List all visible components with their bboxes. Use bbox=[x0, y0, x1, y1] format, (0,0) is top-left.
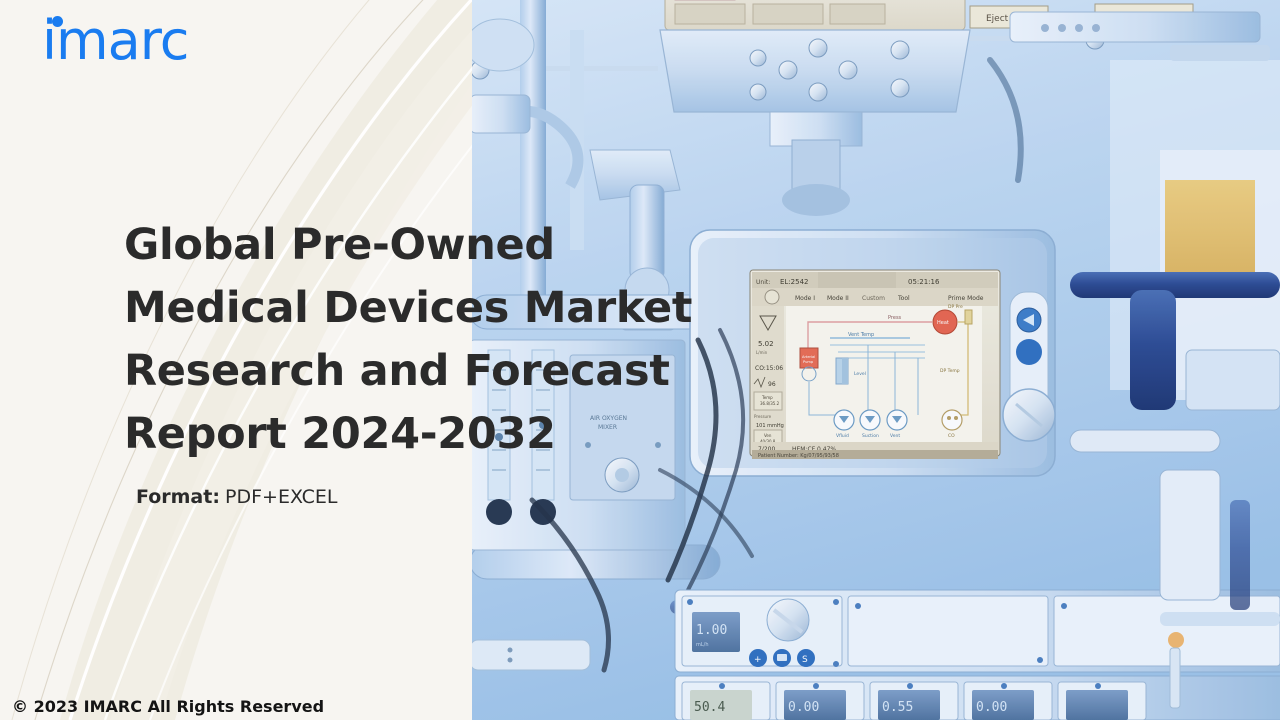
report-title: Global Pre-Owned Medical Devices Market … bbox=[124, 214, 824, 466]
format-row: Format: PDF+EXCEL bbox=[136, 486, 337, 508]
title-line-1: Global Pre-Owned bbox=[124, 214, 824, 277]
format-label: Format: bbox=[136, 486, 220, 508]
logo-dot-icon bbox=[52, 16, 63, 27]
title-line-2: Medical Devices Market bbox=[124, 277, 824, 340]
title-line-4: Report 2024-2032 bbox=[124, 403, 824, 466]
title-line-3: Research and Forecast bbox=[124, 340, 824, 403]
logo-wordmark: imarc bbox=[42, 14, 188, 68]
imarc-logo[interactable]: imarc bbox=[42, 14, 188, 68]
copyright-footer: © 2023 IMARC All Rights Reserved bbox=[12, 697, 324, 716]
format-value: PDF+EXCEL bbox=[225, 486, 337, 508]
